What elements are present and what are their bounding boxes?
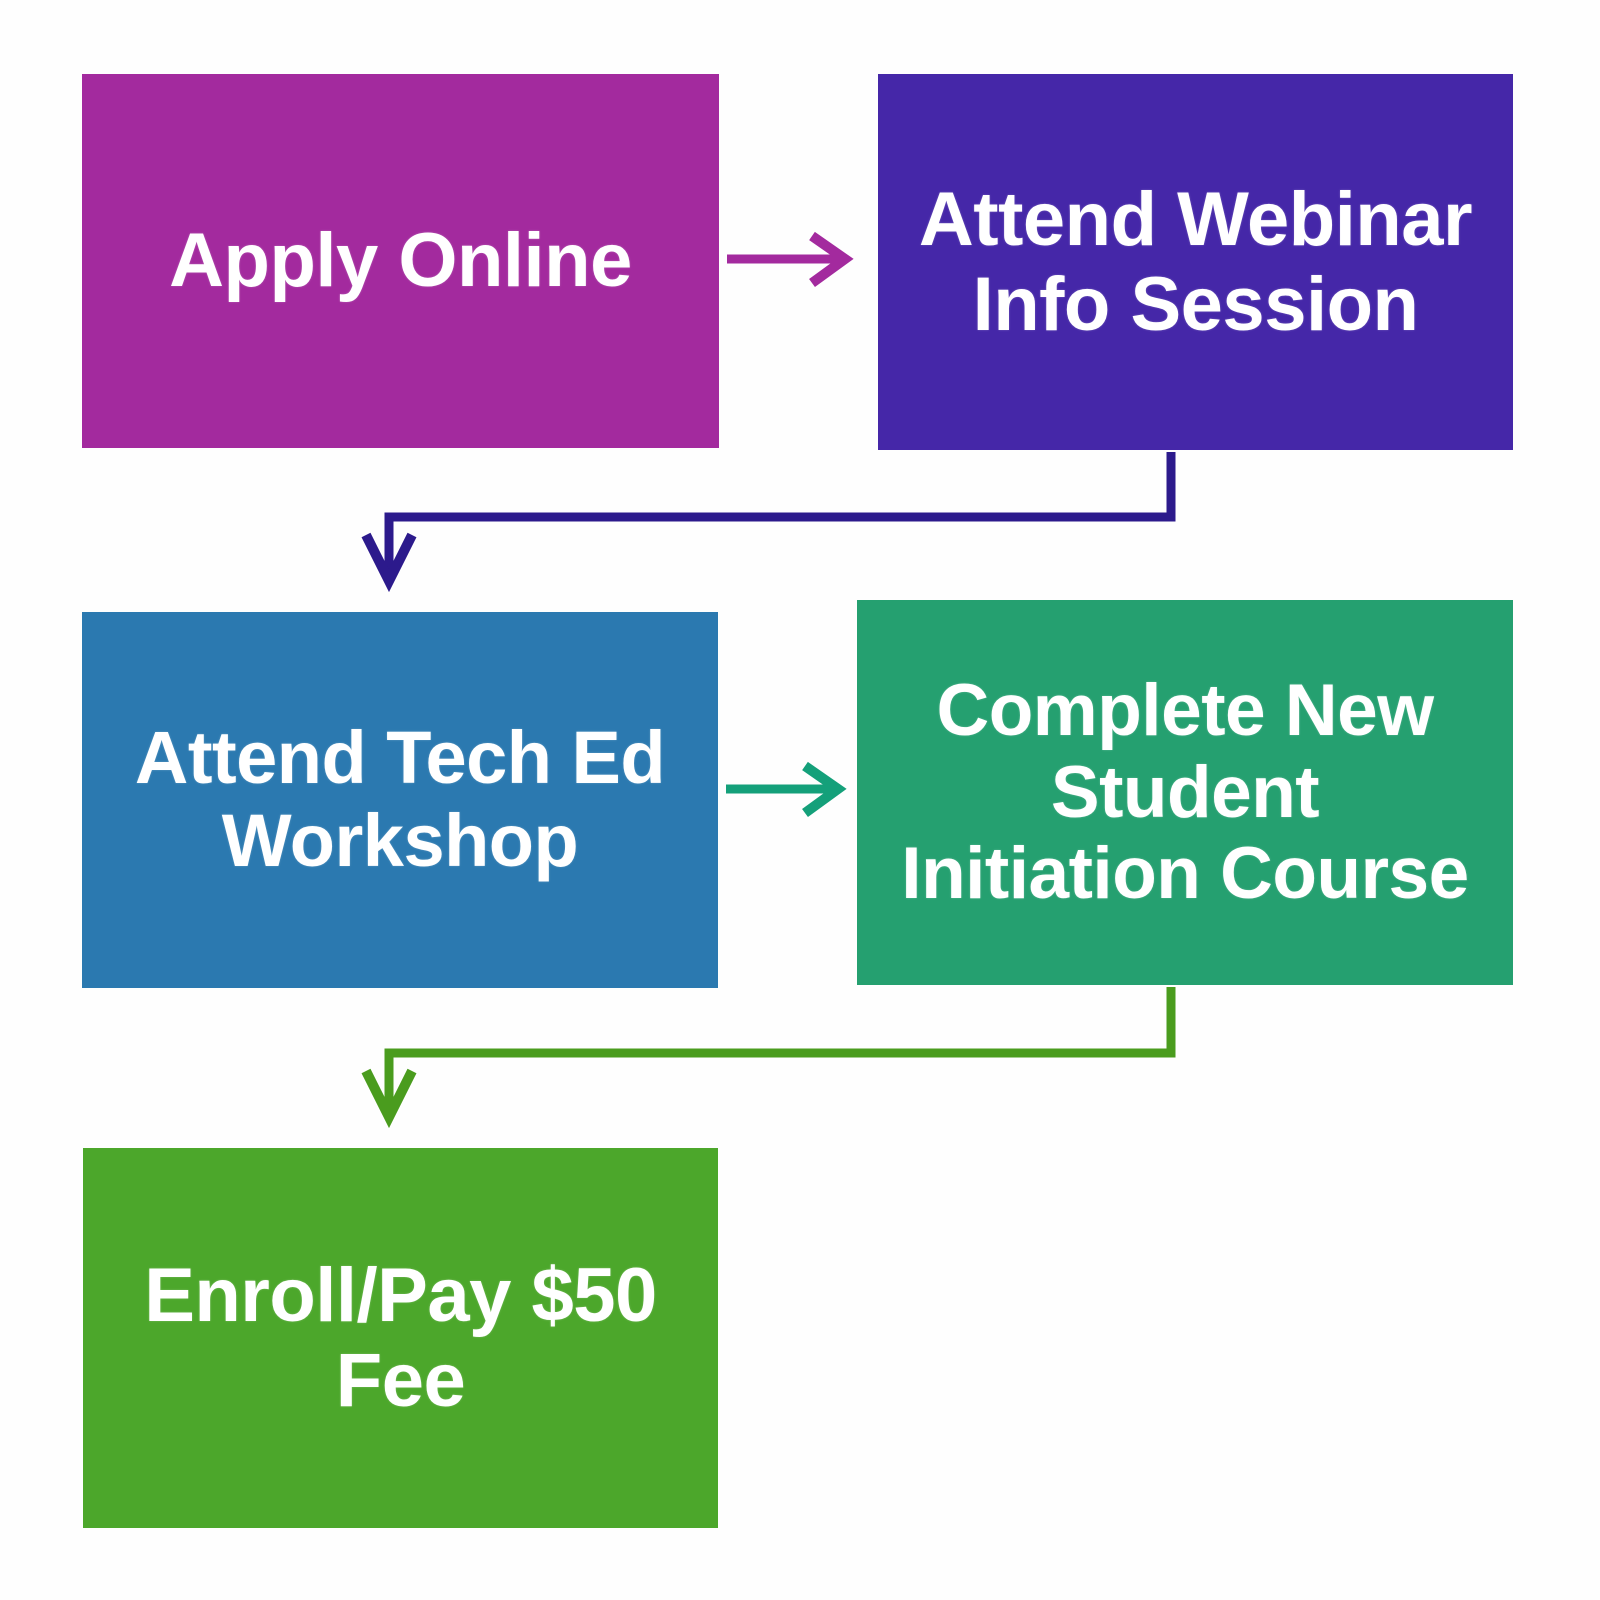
flow-node-label-line1: Attend Tech Ed [135,716,665,799]
flow-node-tech-ed-workshop[interactable]: Attend Tech EdWorkshop [82,612,718,988]
flow-node-label-line1: Enroll/Pay $50 [144,1253,657,1338]
flow-node-label-line1: Attend Webinar [919,177,1472,262]
arrowhead-icon [366,535,412,581]
flow-node-label: Apply Online [110,218,691,303]
flow-node-label: Complete NewStudentInitiation Course [885,670,1485,915]
flow-node-initiation-course[interactable]: Complete NewStudentInitiation Course [857,600,1513,985]
flow-node-label-line2: Fee [336,1338,465,1423]
flow-node-apply-online[interactable]: Apply Online [82,74,719,448]
flowchart-canvas: Apply Online Attend WebinarInfo Session … [0,0,1600,1600]
flow-node-label-line2: Student [1051,752,1319,833]
flow-node-attend-webinar[interactable]: Attend WebinarInfo Session [878,74,1513,450]
connector-apply-to-webinar [727,236,845,283]
connector-webinar-to-workshop [366,452,1171,581]
arrowhead-icon [366,1071,412,1117]
arrowhead-icon [805,766,838,813]
flow-node-label: Enroll/Pay $50Fee [111,1253,690,1423]
connector-line [389,452,1171,570]
flow-node-label: Attend WebinarInfo Session [906,177,1485,347]
connector-line [389,987,1171,1106]
flow-node-label-line2: Workshop [222,799,578,882]
connector-workshop-to-initiation [726,766,838,813]
flow-node-enroll-pay-fee[interactable]: Enroll/Pay $50Fee [83,1148,718,1528]
flow-node-label-line1: Complete New [937,670,1434,751]
flow-node-label: Attend Tech EdWorkshop [110,717,690,883]
flow-node-label-line2: Info Session [973,262,1419,347]
flow-node-label-line3: Initiation Course [901,833,1468,914]
arrowhead-icon [812,236,845,283]
connector-initiation-to-enroll [366,987,1171,1117]
